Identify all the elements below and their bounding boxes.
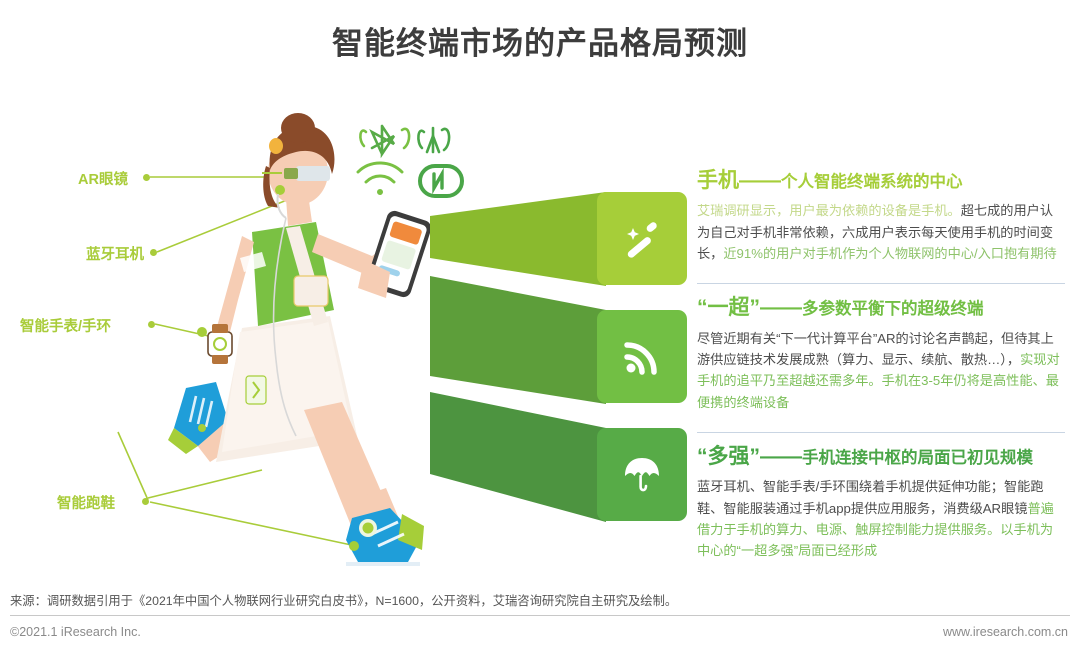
magic-wand-icon xyxy=(619,216,665,262)
section-3-heading-rest: 手机连接中枢的局面已初见规模 xyxy=(802,449,1033,467)
earbud-icon xyxy=(275,185,286,218)
cell-tower-icon xyxy=(418,128,449,152)
section-1-heading: 手机——个人智能终端系统的中心 xyxy=(697,168,1065,193)
section-1-body: 艾瑞调研显示，用户最为依赖的设备是手机。超七成的用户认为自己对手机非常依赖，六成… xyxy=(697,200,1065,264)
signal-wave-icon xyxy=(622,337,662,377)
section-1-heading-main: 手机 xyxy=(697,169,739,192)
bluetooth-icon xyxy=(372,126,394,154)
section-2-body-mid: 尽管近期有关“下一代计算平台”AR的讨论名声鹊起，但待其上游供应链技术发展成熟（… xyxy=(697,331,1054,367)
section-3-heading: “多强”——手机连接中枢的局面已初见规模 xyxy=(697,444,1065,469)
infographic-page: 智能终端市场的产品格局预测 AR眼镜 蓝牙耳机 智能手表/手环 智能跑鞋 xyxy=(0,0,1080,651)
section-1-body-tail: 近91%的用户对手机作为个人物联网的中心/入口抱有期待 xyxy=(723,246,1056,261)
section-phone: 手机——个人智能终端系统的中心 艾瑞调研显示，用户最为依赖的设备是手机。超七成的… xyxy=(697,168,1065,273)
smartwatch-icon xyxy=(197,324,232,364)
wifi-icon xyxy=(358,163,402,195)
section-2-heading-rest: 多参数平衡下的超级终端 xyxy=(802,300,984,318)
source-note: 来源：调研数据引用于《2021年中国个人物联网行业研究白皮书》，N=1600，公… xyxy=(10,591,1070,609)
section-1-body-lead: 艾瑞调研显示，用户最为依赖的设备是手机。 xyxy=(697,203,961,218)
section-2-heading-main: “一超” xyxy=(697,296,760,319)
band-tile-1[interactable] xyxy=(597,192,687,285)
section-3-body-mid: 蓝牙耳机、智能手表/手环围绕着手机提供延伸功能；智能跑鞋、智能服装通过手机app… xyxy=(697,479,1044,515)
section-1-heading-dash: —— xyxy=(739,169,781,192)
section-3-heading-main: “多强” xyxy=(697,445,760,468)
section-3-body: 蓝牙耳机、智能手表/手环围绕着手机提供延伸功能；智能跑鞋、智能服装通过手机app… xyxy=(697,476,1065,562)
website-url[interactable]: www.iresearch.com.cn xyxy=(943,625,1068,639)
sections-panel: 手机——个人智能终端系统的中心 艾瑞调研显示，用户最为依赖的设备是手机。超七成的… xyxy=(697,168,1065,571)
section-1-heading-rest: 个人智能终端系统的中心 xyxy=(781,173,963,191)
copyright-text: ©2021.1 iResearch Inc. xyxy=(10,625,141,639)
section-2-heading-dash: —— xyxy=(760,296,802,319)
umbrella-icon xyxy=(621,454,663,496)
section-2-heading: “一超”——多参数平衡下的超级终端 xyxy=(697,295,1065,320)
section-2-body: 尽管近期有关“下一代计算平台”AR的讨论名声鹊起，但待其上游供应链技术发展成熟（… xyxy=(697,328,1065,414)
footer-divider xyxy=(10,615,1070,616)
smart-clothing-tag xyxy=(246,376,266,404)
section-super-terminal: “一超”——多参数平衡下的超级终端 尽管近期有关“下一代计算平台”AR的讨论名声… xyxy=(697,283,1065,422)
section-many-strong: “多强”——手机连接中枢的局面已初见规模 蓝牙耳机、智能手表/手环围绕着手机提供… xyxy=(697,432,1065,571)
page-title: 智能终端市场的产品格局预测 xyxy=(0,18,1080,63)
section-3-heading-dash: —— xyxy=(760,445,802,468)
band-tile-2[interactable] xyxy=(597,310,687,403)
band-tile-3[interactable] xyxy=(597,428,687,521)
